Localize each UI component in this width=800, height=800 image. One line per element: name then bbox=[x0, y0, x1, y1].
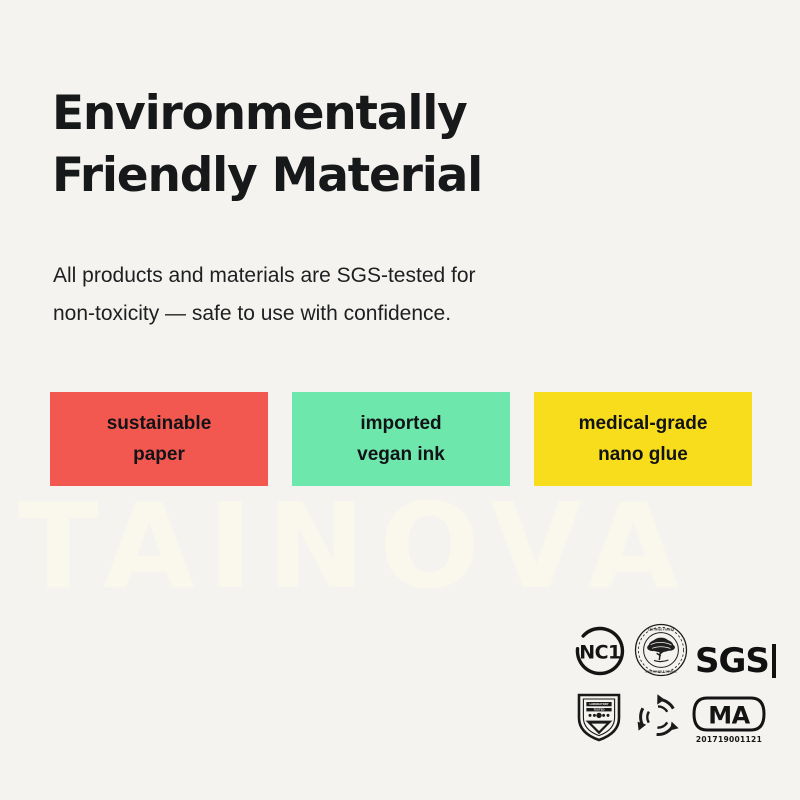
certification-row-top: NC1 bbox=[573, 618, 779, 678]
poster-canvas: TAINOVA Environmentally Friendly Materia… bbox=[0, 0, 800, 800]
page-title-line-2: Friendly Material bbox=[52, 145, 732, 207]
cma-certificate-number: 201719001121 bbox=[696, 735, 762, 744]
svg-text:SUSTAINABLE SOURCE: SUSTAINABLE SOURCE bbox=[645, 670, 677, 674]
recycling-symbol-icon bbox=[631, 690, 685, 744]
material-chip-nano-glue: medical-grade nano glue bbox=[534, 392, 752, 486]
cma-mark: MA 201719001121 bbox=[691, 695, 767, 744]
page-title-line-1: Environmentally bbox=[52, 83, 732, 145]
cma-mark-icon: MA bbox=[691, 695, 767, 733]
chip-label-line-1: imported bbox=[360, 408, 441, 439]
material-chip-sustainable-paper: sustainable paper bbox=[50, 392, 268, 486]
sgs-logo: SGS bbox=[695, 644, 776, 678]
svg-text:CERTIFIED FOREST: CERTIFIED FOREST bbox=[648, 628, 675, 632]
chip-label-line-2: nano glue bbox=[598, 439, 688, 470]
svg-text:LABORATORY: LABORATORY bbox=[589, 702, 608, 706]
certification-badge-group: NC1 bbox=[573, 618, 779, 746]
svg-text:NC1: NC1 bbox=[579, 642, 621, 664]
material-chip-vegan-ink: imported vegan ink bbox=[292, 392, 510, 486]
description-line-2: non-toxicity — safe to use with confiden… bbox=[53, 295, 653, 333]
description-line-1: All products and materials are SGS-teste… bbox=[53, 257, 653, 295]
chip-label-line-1: medical-grade bbox=[579, 408, 708, 439]
chip-label-line-2: paper bbox=[133, 439, 185, 470]
shield-badge-icon: LABORATORY TESTED bbox=[573, 688, 625, 744]
description-text: All products and materials are SGS-teste… bbox=[53, 257, 653, 333]
certification-row-bottom: LABORATORY TESTED bbox=[573, 684, 779, 744]
chip-label-line-1: sustainable bbox=[107, 408, 212, 439]
forest-tree-seal-icon: CERTIFIED FOREST SUSTAINABLE SOURCE bbox=[633, 622, 689, 678]
page-title: Environmentally Friendly Material bbox=[52, 83, 732, 207]
svg-text:TESTED: TESTED bbox=[593, 708, 605, 712]
chip-label-line-2: vegan ink bbox=[357, 439, 445, 470]
material-chip-list: sustainable paper imported vegan ink med… bbox=[50, 392, 754, 486]
nc1-badge-icon: NC1 bbox=[573, 624, 627, 678]
svg-text:MA: MA bbox=[708, 702, 750, 730]
brand-watermark: TAINOVA bbox=[18, 486, 784, 606]
